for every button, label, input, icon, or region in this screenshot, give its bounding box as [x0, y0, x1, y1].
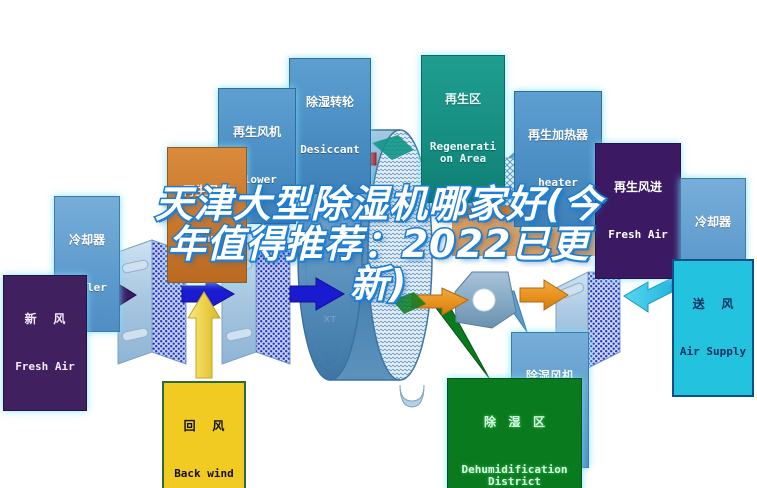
label-exhaust-air[interactable]: 再生风出 Exhaust: [167, 147, 247, 283]
label-air-supply-cn: 送 风: [679, 298, 747, 311]
label-fresh-air-inlet[interactable]: 新 风 Fresh Air: [3, 275, 87, 411]
label-dehumidification-district-cn: 除 湿 区: [453, 416, 576, 429]
label-fresh-air-inlet-cn: 新 风: [9, 313, 81, 326]
label-air-supply-en: Air Supply: [679, 346, 747, 358]
label-dehumidification-district-en: Dehumidification District: [453, 464, 576, 488]
label-regeneration-heater[interactable]: 再生加热器 heater: [514, 91, 602, 227]
label-fresh-air-inlet-en: Fresh Air: [9, 361, 81, 373]
air-supply-arrow: [624, 278, 672, 312]
label-cooler-left-cn: 冷却器: [60, 234, 114, 247]
label-regeneration-blower-cn: 再生风机: [224, 126, 290, 139]
label-cooler-right-cn: 冷却器: [686, 216, 740, 229]
label-desiccant-rotor-en: Desiccant: [295, 144, 365, 156]
rotor-watermark: xт: [324, 312, 338, 325]
label-dehumidification-district[interactable]: 除 湿 区 Dehumidification District: [447, 378, 582, 488]
label-regeneration-heater-cn: 再生加热器: [520, 129, 596, 142]
label-exhaust-air-en: Exhaust: [173, 233, 241, 245]
label-regeneration-area-en: Regenerati on Area: [427, 141, 499, 165]
dehumidifier-schematic-image: xт: [0, 0, 757, 488]
label-back-wind[interactable]: 回 风 Back wind: [162, 381, 246, 488]
label-regeneration-area[interactable]: 再生区 Regenerati on Area: [421, 55, 505, 203]
label-back-wind-en: Back wind: [169, 468, 239, 480]
label-regeneration-area-cn: 再生区: [427, 93, 499, 106]
label-regeneration-air-inlet-en: Fresh Air: [601, 229, 675, 241]
label-regeneration-air-inlet-cn: 再生风进: [601, 181, 675, 194]
label-back-wind-cn: 回 风: [169, 420, 239, 433]
label-desiccant-rotor-cn: 除湿转轮: [295, 96, 365, 109]
label-regeneration-heater-en: heater: [520, 177, 596, 189]
label-desiccant-rotor[interactable]: 除湿转轮 Desiccant: [289, 58, 371, 194]
label-air-supply[interactable]: 送 风 Air Supply: [672, 259, 754, 397]
label-exhaust-air-cn: 再生风出: [173, 185, 241, 198]
label-regeneration-air-inlet[interactable]: 再生风进 Fresh Air: [595, 143, 681, 279]
